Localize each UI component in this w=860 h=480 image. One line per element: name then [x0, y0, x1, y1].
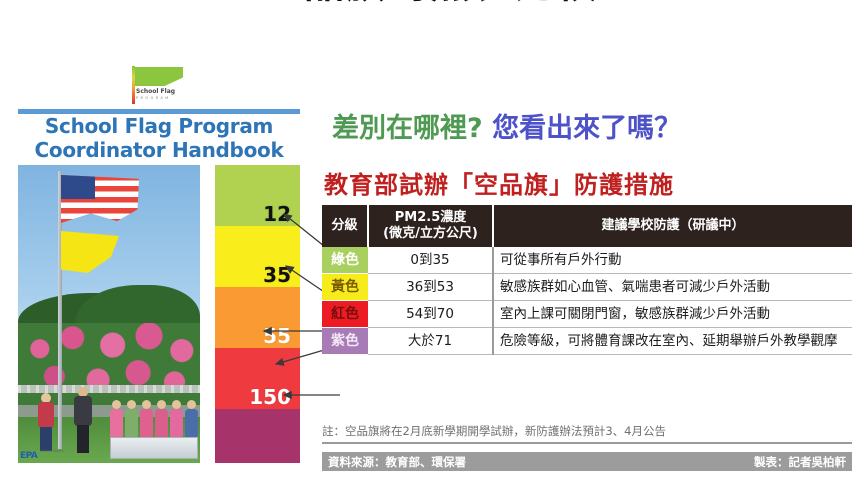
- logo-text: School Flag: [136, 88, 175, 95]
- question-green-part: 差別在哪裡?: [332, 113, 483, 144]
- handbook-title-line2: Coordinator Handbook: [18, 138, 300, 162]
- table-row: 紅色 54到70 室內上課可關閉門窗，敏感族群減少戶外活動: [322, 301, 852, 328]
- header-concentration-line1: PM2.5濃度: [395, 210, 467, 225]
- concentration-yellow: 36到53: [368, 274, 493, 301]
- epa-sub: United States Environmental Protection A…: [40, 437, 97, 463]
- school-flag-handbook-panel: School Flag P R O G R A M School Flag Pr…: [18, 62, 300, 478]
- action-purple: 危險等級，可將體育課改在室內、延期舉辦戶外教學觀摩: [493, 328, 852, 355]
- scale-band-red: 150: [215, 348, 300, 409]
- scale-value-yellow: 35: [263, 263, 300, 287]
- level-swatch-red: 紅色: [322, 301, 368, 328]
- concentration-green: 0到35: [368, 247, 493, 274]
- pm25-table-wrapper: 分級 PM2.5濃度 (微克/立方公尺) 建議學校防護（研議中） 綠色 0到35…: [322, 205, 852, 355]
- epa-logo: EPA United States Environmental Protecti…: [20, 451, 97, 461]
- logo-pole-shape: [132, 66, 135, 104]
- level-swatch-yellow: 黃色: [322, 274, 368, 301]
- scale-value-red: 150: [249, 385, 300, 409]
- photo-fence: [18, 385, 200, 393]
- slide-title-clip: 空品旗對照表比較: [0, 0, 860, 18]
- concentration-purple: 大於71: [368, 328, 493, 355]
- us-flag-canton: [61, 175, 95, 199]
- table-row: 紫色 大於71 危險等級，可將體育課改在室內、延期舉辦戶外教學觀摩: [322, 328, 852, 355]
- scale-band-orange: 55: [215, 287, 300, 348]
- logo-flag-shape: [135, 67, 183, 86]
- header-level: 分級: [322, 205, 368, 247]
- source-left: 資料來源：教育部、環保署: [328, 454, 466, 470]
- source-bar: 資料來源：教育部、環保署 製表：記者吳柏軒: [322, 452, 852, 471]
- concentration-red: 54到70: [368, 301, 493, 328]
- photo-display-table: [110, 437, 198, 459]
- slide-canvas: 空品旗對照表比較 School Flag P R O G R A M Schoo…: [0, 0, 860, 480]
- school-flag-logo-icon: School Flag P R O G R A M: [128, 66, 190, 108]
- slide-title: 空品旗對照表比較: [0, 0, 860, 10]
- header-concentration-line2: (微克/立方公尺): [383, 226, 478, 241]
- level-swatch-green: 綠色: [322, 247, 368, 274]
- question-blue-part: 您看出來了嗎？: [492, 113, 681, 144]
- source-right: 製表：記者吳柏軒: [754, 454, 846, 470]
- level-swatch-purple: 紫色: [322, 328, 368, 355]
- aqi-color-scale: 12 35 55 150: [215, 165, 300, 463]
- epa-mark: EPA: [20, 451, 37, 461]
- handbook-title: School Flag Program Coordinator Handbook: [18, 114, 300, 162]
- table-row: 綠色 0到35 可從事所有戶外行動: [322, 247, 852, 274]
- header-concentration: PM2.5濃度 (微克/立方公尺): [368, 205, 493, 247]
- scale-band-yellow: 35: [215, 226, 300, 287]
- action-red: 室內上課可關閉門窗，敏感族群減少戶外活動: [493, 301, 852, 328]
- table-title: 教育部試辦「空品旗」防護措施: [324, 165, 674, 200]
- scale-band-purple: [215, 409, 300, 463]
- table-note: 註：空品旗將在2月底新學期開學試辦，新防護辦法預計3、4月公告: [322, 424, 852, 444]
- logo-subtext: P R O G R A M: [136, 96, 169, 100]
- action-yellow: 敏感族群如心血管、氣喘患者可減少戶外活動: [493, 274, 852, 301]
- scale-band-green: 12: [215, 165, 300, 226]
- pm25-protection-table: 分級 PM2.5濃度 (微克/立方公尺) 建議學校防護（研議中） 綠色 0到35…: [322, 205, 852, 355]
- scale-value-green: 12: [263, 202, 300, 226]
- header-action: 建議學校防護（研議中）: [493, 205, 852, 247]
- question-headline: 差別在哪裡? 您看出來了嗎？: [332, 106, 681, 145]
- table-header-row: 分級 PM2.5濃度 (微克/立方公尺) 建議學校防護（研議中）: [322, 205, 852, 247]
- handbook-title-line1: School Flag Program: [18, 114, 300, 138]
- scale-value-orange: 55: [263, 324, 300, 348]
- table-row: 黃色 36到53 敏感族群如心血管、氣喘患者可減少戶外活動: [322, 274, 852, 301]
- epa-sub-line1: United States: [40, 449, 63, 453]
- action-green: 可從事所有戶外行動: [493, 247, 852, 274]
